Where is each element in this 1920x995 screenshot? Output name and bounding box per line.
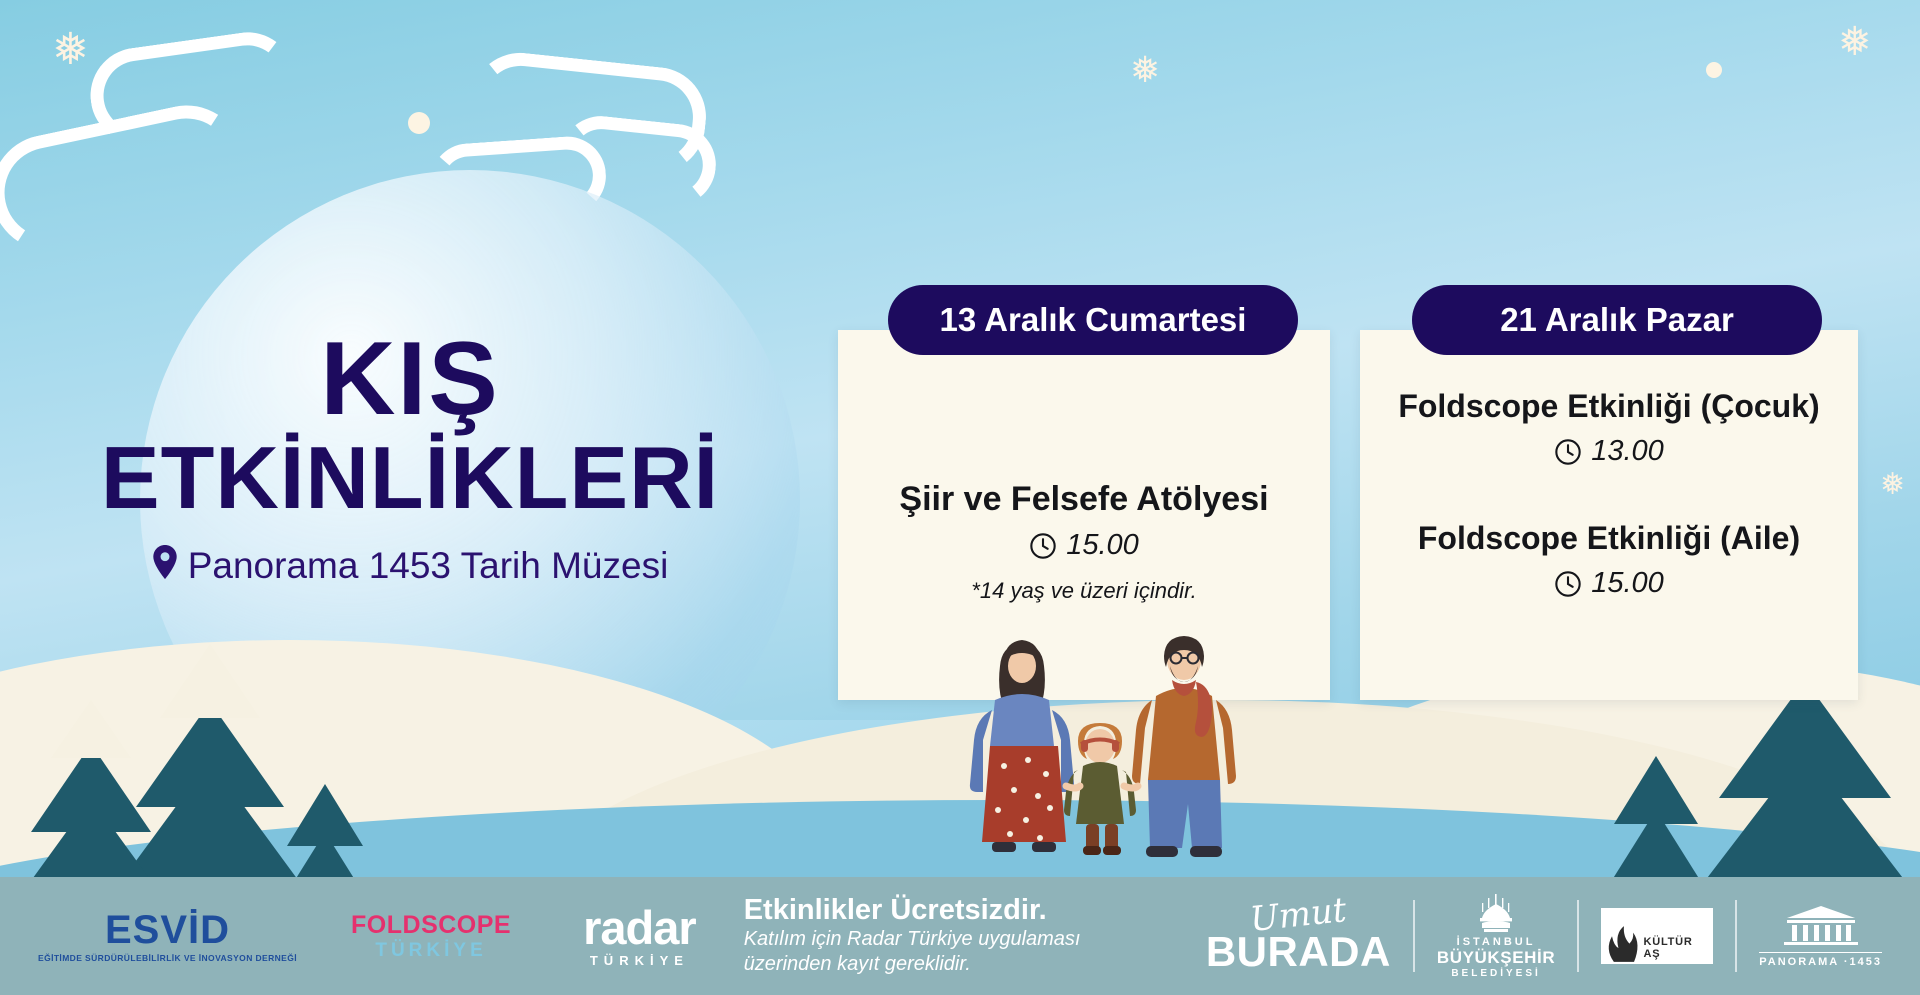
event-time-label: 15.00 [1066, 529, 1139, 562]
logo-kultur-as[interactable]: KÜLTÜR AŞ [1601, 908, 1713, 964]
umut-bold-word: BURADA [1206, 931, 1391, 973]
logo-ibb[interactable]: İSTANBUL BÜYÜKŞEHİR BELEDİYESİ [1437, 894, 1555, 979]
esvid-tagline: EĞİTİMDE SÜRDÜRÜLEBİLİRLİK VE İNOVASYON … [38, 953, 297, 963]
footer-divider [1735, 900, 1737, 972]
event-card-2[interactable]: Foldscope Etkinliği (Çocuk) 13.00 Foldsc… [1360, 330, 1858, 700]
event-date-badge-1[interactable]: 13 Aralık Cumartesi [888, 285, 1298, 355]
foldscope-region: TÜRKİYE [375, 941, 486, 960]
event-entry: Şiir ve Felsefe Atölyesi 15.00 *14 yaş v… [838, 480, 1330, 604]
event-title: Şiir ve Felsefe Atölyesi [838, 480, 1330, 519]
foldscope-wordmark: FOLDSCOPE [351, 913, 511, 938]
ibb-line-2: BÜYÜKŞEHİR [1437, 948, 1555, 968]
logo-esvid[interactable]: ESVİD EĞİTİMDE SÜRDÜRÜLEBİLİRLİK VE İNOV… [38, 910, 297, 963]
headline-line-2: ETKİNLİKLERİ [90, 433, 730, 523]
event-time-label: 13.00 [1591, 435, 1664, 468]
snow-dot [1706, 62, 1722, 78]
mother-figure [970, 640, 1074, 852]
snowflake-icon: ❅ [1880, 470, 1905, 500]
kultur-flame-icon [1601, 914, 1643, 964]
headline-line-1: KIŞ [90, 330, 730, 429]
panorama-wordmark: PANORAMA ·1453 [1759, 952, 1882, 968]
event-time: 15.00 [838, 529, 1330, 562]
clock-icon [1554, 570, 1582, 598]
logo-panorama-1453[interactable]: PANORAMA ·1453 [1759, 904, 1882, 968]
clock-icon [1554, 438, 1582, 466]
umut-script-word: Umut [1249, 894, 1348, 936]
venue-label: Panorama 1453 Tarih Müzesi [188, 545, 669, 587]
event-entry: Foldscope Etkinliği (Aile) 15.00 [1360, 520, 1858, 600]
kultur-wordmark: KÜLTÜR AŞ [1643, 936, 1713, 964]
footer-message: Etkinlikler Ücretsizdir. Katılım için Ra… [744, 895, 1081, 977]
event-time: 13.00 [1360, 435, 1858, 468]
location-pin-icon [152, 545, 178, 588]
event-title: Foldscope Etkinliği (Aile) [1360, 520, 1858, 557]
footer-divider [1577, 900, 1579, 972]
event-time: 15.00 [1360, 567, 1858, 600]
logo-radar[interactable]: radar TÜRKİYE [583, 904, 696, 968]
poster-headline: KIŞ ETKİNLİKLERİ Panorama 1453 Tarih Müz… [90, 330, 730, 588]
ibb-line-1: İSTANBUL [1457, 936, 1536, 948]
radar-wordmark: radar [583, 904, 696, 951]
footer-divider [1413, 900, 1415, 972]
snowflake-icon: ❅ [1130, 52, 1160, 88]
kultur-logo-box: KÜLTÜR AŞ [1601, 908, 1713, 964]
event-entry: Foldscope Etkinliği (Çocuk) 13.00 [1360, 388, 1858, 468]
radar-region: TÜRKİYE [590, 953, 689, 968]
father-figure [1132, 636, 1236, 857]
venue-line: Panorama 1453 Tarih Müzesi [90, 545, 730, 588]
clock-icon [1029, 532, 1057, 560]
footer-sub-line-1: Katılım için Radar Türkiye uygulaması [744, 928, 1081, 952]
snowflake-icon: ❅ [52, 28, 89, 72]
family-illustration [940, 600, 1290, 890]
esvid-wordmark: ESVİD [105, 910, 230, 950]
logo-umut-burada[interactable]: Umut BURADA [1206, 899, 1391, 973]
footer-bar: ESVİD EĞİTİMDE SÜRDÜRÜLEBİLİRLİK VE İNOV… [0, 877, 1920, 995]
snowflake-icon: ❅ [1838, 22, 1872, 62]
ibb-line-3: BELEDİYESİ [1451, 968, 1540, 979]
ibb-mosque-icon [1468, 894, 1524, 936]
event-date-badge-2[interactable]: 21 Aralık Pazar [1412, 285, 1822, 355]
footer-sub-line-2: üzerinden kayıt gereklidir. [744, 953, 1081, 977]
panorama-building-icon [1778, 904, 1864, 948]
event-title: Foldscope Etkinliği (Çocuk) [1360, 388, 1858, 425]
snow-dot [408, 112, 430, 134]
footer-headline: Etkinlikler Ücretsizdir. [744, 895, 1081, 925]
logo-foldscope[interactable]: FOLDSCOPE TÜRKİYE [351, 913, 511, 960]
poster-canvas: ❅ ❅ ❅ ❅ ❅ ❅ ❅ ❅ ❅ ❅ KIŞ [0, 0, 1920, 995]
event-time-label: 15.00 [1591, 567, 1664, 600]
